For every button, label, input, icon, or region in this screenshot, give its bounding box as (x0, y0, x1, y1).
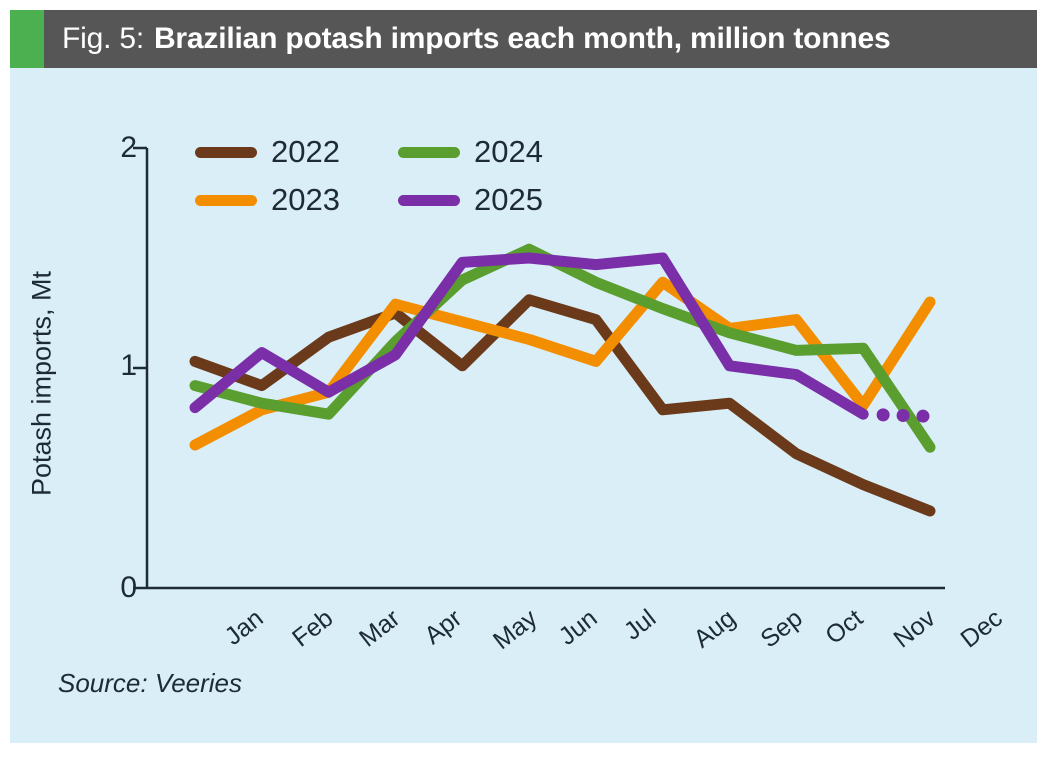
chart-panel: Potash imports, Mt 2 1 0 JanFebMarAprMay… (10, 68, 1037, 743)
legend-swatch-2025 (398, 195, 460, 206)
figure-title-bar: Fig. 5: Brazilian potash imports each mo… (10, 10, 1037, 68)
figure-number: Fig. 5: (62, 22, 144, 56)
chart-legend: 2022 2024 2023 2025 (195, 128, 579, 224)
legend-item-2024[interactable]: 2024 (398, 134, 543, 170)
legend-swatch-2024 (398, 147, 460, 158)
legend-label-2024: 2024 (474, 134, 543, 170)
legend-item-2022[interactable]: 2022 (195, 134, 340, 170)
plot-area: Potash imports, Mt 2 1 0 JanFebMarAprMay… (10, 68, 1037, 743)
legend-item-2023[interactable]: 2023 (195, 182, 340, 218)
legend-item-2025[interactable]: 2025 (398, 182, 543, 218)
legend-swatch-2022 (195, 147, 257, 158)
figure-container: Fig. 5: Brazilian potash imports each mo… (0, 0, 1047, 761)
forecast-dot-2025 (877, 408, 890, 421)
title-accent-block (10, 10, 44, 68)
legend-row-2: 2023 2025 (195, 176, 579, 224)
source-note: Source: Veeries (58, 668, 242, 699)
legend-label-2022: 2022 (271, 134, 340, 170)
forecast-dot-2025 (917, 410, 930, 423)
page-title: Fig. 5: Brazilian potash imports each mo… (62, 10, 891, 68)
legend-swatch-2023 (195, 195, 257, 206)
figure-title: Brazilian potash imports each month, mil… (154, 22, 891, 56)
legend-label-2023: 2023 (271, 182, 340, 218)
legend-row-1: 2022 2024 (195, 128, 579, 176)
legend-label-2025: 2025 (474, 182, 543, 218)
forecast-dot-2025 (897, 409, 910, 422)
